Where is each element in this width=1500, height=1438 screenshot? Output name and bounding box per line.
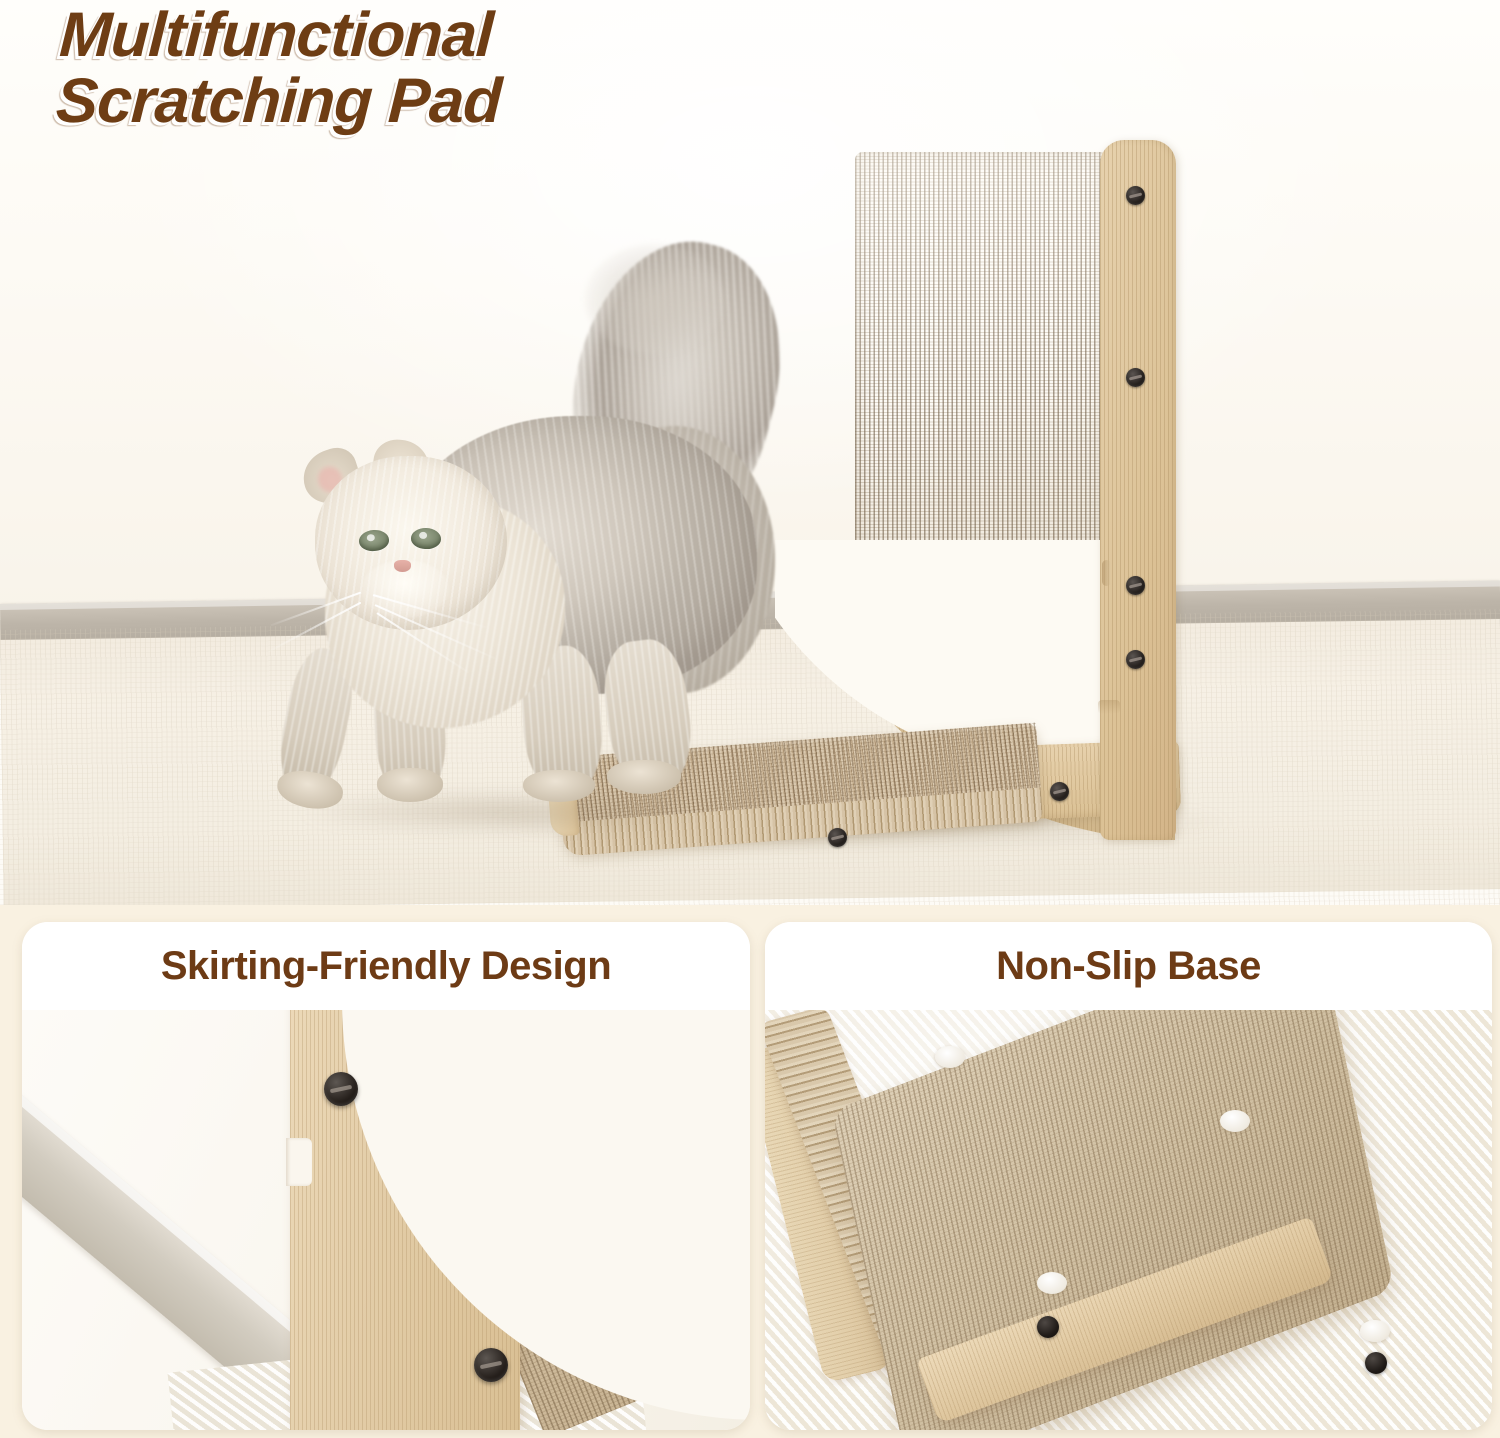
non-slip-foot-pad — [1360, 1320, 1390, 1342]
feature-card-title: Non-Slip Base — [996, 944, 1261, 989]
screw-icon — [1050, 782, 1069, 801]
cat-eye-right — [411, 527, 442, 549]
feature-card-non-slip-base[interactable]: Non-Slip Base — [765, 922, 1492, 1430]
screw-icon — [1126, 576, 1145, 595]
feature-card-photo-base — [765, 1010, 1492, 1430]
page-title-line-1: Multifunctional — [58, 0, 495, 70]
card-header: Skirting-Friendly Design — [22, 922, 750, 1010]
feature-card-skirting-friendly[interactable]: Skirting-Friendly Design — [22, 922, 750, 1430]
non-slip-foot-pad — [935, 1046, 965, 1068]
screw-icon — [1037, 1316, 1059, 1338]
hero-product-photo: Multifunctional Scratching Pad — [0, 0, 1500, 905]
feature-card-title: Skirting-Friendly Design — [161, 944, 611, 989]
screw-icon — [828, 828, 847, 847]
screw-icon — [1126, 186, 1145, 205]
cat-photo-subject — [255, 248, 775, 868]
screw-icon — [474, 1348, 508, 1382]
screw-icon — [1126, 368, 1145, 387]
non-slip-foot-pad — [1220, 1110, 1250, 1132]
cat-paw — [377, 768, 443, 802]
screw-icon — [1365, 1352, 1387, 1374]
feature-card-photo-skirting — [22, 1010, 750, 1430]
skirting-notch — [1102, 560, 1111, 586]
cat-paw — [607, 760, 681, 794]
cat-paw — [523, 770, 595, 802]
non-slip-foot-pad — [1037, 1272, 1067, 1294]
page-title: Multifunctional Scratching Pad — [55, 2, 822, 134]
detail-skirting-clearance-notch — [286, 1138, 312, 1186]
feature-cards: Skirting-Friendly Design Non-Slip Base — [0, 905, 1500, 1438]
card-header: Non-Slip Base — [765, 922, 1492, 1010]
skirting-notch-shadow — [1098, 700, 1120, 714]
cat-tail-tip — [585, 244, 725, 354]
screw-icon — [324, 1072, 358, 1106]
page-title-line-2: Scratching Pad — [55, 68, 818, 134]
screw-icon — [1126, 650, 1145, 669]
wood-vertical-rail — [1100, 140, 1176, 840]
cat-nose — [394, 560, 411, 572]
cat-shadow — [295, 788, 715, 836]
